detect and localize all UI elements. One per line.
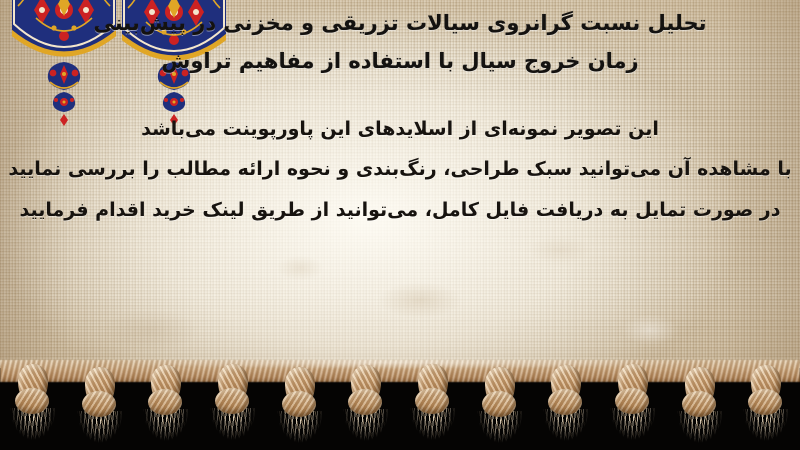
slide-body-line-2: با مشاهده آن می‌توانید سبک طراحی، رنگ‌بن…: [0, 157, 800, 181]
tassel: [271, 367, 329, 450]
slide-title-line-1: تحلیل نسبت گرانروی سیالات تزریقی و مخزنی…: [0, 10, 800, 36]
tassel-knot: [15, 388, 49, 414]
tassel-strands: [210, 408, 256, 448]
slide-body-line-3: در صورت تمایل به دریافت فایل کامل، می‌تو…: [0, 198, 800, 222]
slide-text-layer: تحلیل نسبت گرانروی سیالات تزریقی و مخزنی…: [0, 0, 800, 378]
tassel: [404, 364, 462, 448]
tassel-knot: [215, 388, 249, 414]
tassel-strands: [743, 409, 789, 449]
slide-title-line-2: زمان خروج سیال با استفاده از مفاهیم تراو…: [0, 48, 800, 74]
slide-canvas: تحلیل نسبت گرانروی سیالات تزریقی و مخزنی…: [0, 0, 800, 450]
tassel: [337, 365, 395, 449]
tassel-strands: [10, 408, 56, 448]
tassel-knot: [282, 391, 316, 417]
tassel: [71, 367, 129, 450]
tassel-strands: [543, 409, 589, 449]
tassel-knot: [615, 388, 649, 414]
tassel: [4, 364, 62, 448]
slide-body-line-1: این تصویر نمونه‌ای از اسلایدهای این پاور…: [0, 117, 800, 141]
tassel-knot: [482, 391, 516, 417]
tassel-knot: [682, 391, 716, 417]
tassel-strands: [343, 409, 389, 449]
tassel: [537, 365, 595, 449]
tassel: [204, 364, 262, 448]
tassel-strands: [610, 408, 656, 448]
tassel: [671, 367, 729, 450]
tassel: [137, 365, 195, 449]
tassel-knot: [82, 391, 116, 417]
tassel-strands: [143, 409, 189, 449]
tassel: [737, 365, 795, 449]
tassel-knot: [415, 388, 449, 414]
tassel-strands: [410, 408, 456, 448]
tassel: [604, 364, 662, 448]
tassel: [471, 367, 529, 450]
